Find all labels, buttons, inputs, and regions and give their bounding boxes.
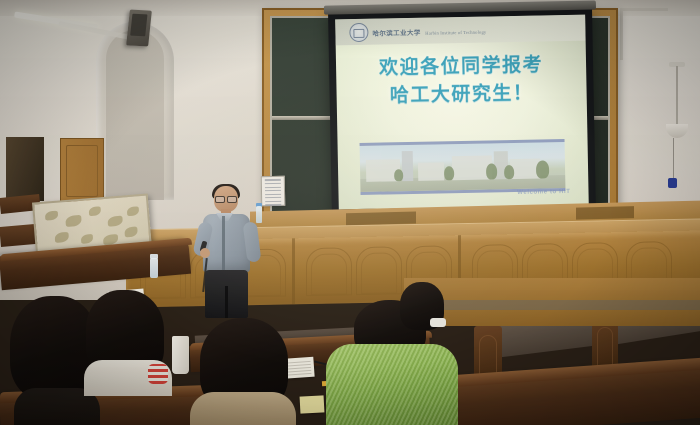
paper-cup <box>172 336 189 374</box>
student-center <box>196 318 296 425</box>
hanging-cord <box>673 138 674 180</box>
student-far-right <box>400 282 448 352</box>
lecturer <box>196 186 258 316</box>
student-collar <box>430 318 446 327</box>
cord-knob-icon <box>668 178 677 188</box>
student-green-sweater <box>326 344 458 425</box>
glasses-icon <box>215 196 237 201</box>
presentation-slide: 哈尔滨工业大学 Harbin Institute of Technology 欢… <box>335 15 589 210</box>
archway-recess <box>106 30 164 200</box>
lecturer-hand <box>200 248 210 258</box>
left-doorway <box>6 137 44 201</box>
slide-title-line-1: 欢迎各位同学报考 <box>379 54 543 78</box>
university-logo: 哈尔滨工业大学 Harbin Institute of Technology <box>349 21 486 43</box>
student-sleeve-stripe <box>148 364 168 384</box>
projection-screen: 哈尔滨工业大学 Harbin Institute of Technology 欢… <box>328 7 596 220</box>
lecture-hall-photo: 哈尔滨工业大学 Harbin Institute of Technology 欢… <box>0 0 700 425</box>
wall-notice-frame <box>261 176 286 206</box>
student-coat <box>190 392 296 425</box>
student-front-left-2 <box>86 290 168 410</box>
sconce-rod <box>676 66 678 126</box>
lecturer-trousers <box>205 270 248 318</box>
university-name-en: Harbin Institute of Technology <box>425 30 486 36</box>
sticky-note <box>300 395 325 413</box>
wooden-door <box>60 138 104 202</box>
slide-title-line-2: 哈工大研究生！ <box>336 78 586 110</box>
wall-speaker-icon <box>126 10 152 47</box>
slide-title: 欢迎各位同学报考 哈工大研究生！ <box>336 51 587 111</box>
slide-footer-text: Welcome to HIT <box>517 189 570 196</box>
water-bottle-bench <box>150 258 158 278</box>
wall-conduit-horizontal <box>620 8 668 11</box>
university-name-cn: 哈尔滨工业大学 <box>372 30 420 38</box>
university-crest-icon <box>349 23 368 42</box>
wall-conduit <box>620 8 623 60</box>
lecturer-shirt <box>203 214 250 272</box>
lecturer-shirt-placket <box>222 216 225 270</box>
campus-panorama-image <box>360 139 566 195</box>
